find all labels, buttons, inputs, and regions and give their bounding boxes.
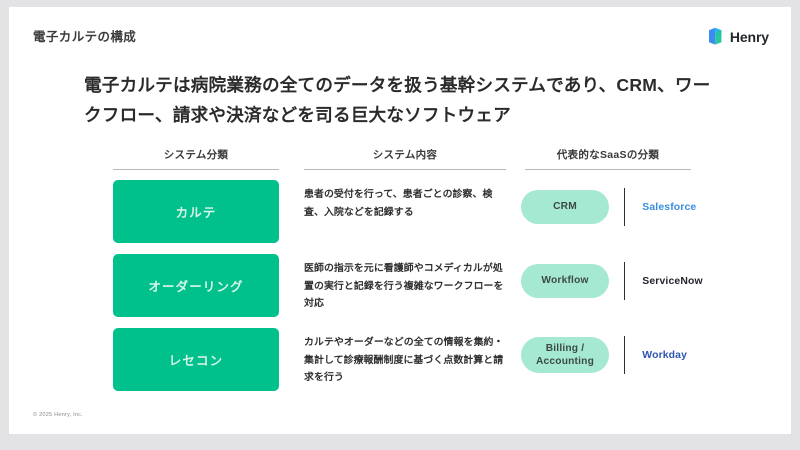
saas-type-pill: Billing /Accounting xyxy=(521,337,609,374)
column-header-category: システム分類 xyxy=(113,147,279,170)
category-box: オーダーリング xyxy=(113,254,279,317)
table-row: カルテ 患者の受付を行って、患者ごとの診察、検査、入院などを記録する CRM S… xyxy=(9,180,791,243)
saas-group: CRM Salesforce xyxy=(521,188,696,226)
saas-type-label: CRM xyxy=(553,200,577,213)
row-description: 患者の受付を行って、患者ごとの診察、検査、入院などを記録する xyxy=(304,186,507,221)
vertical-divider xyxy=(624,262,625,300)
page-title: 電子カルテの構成 xyxy=(33,31,136,44)
brand-logo-group: Henry xyxy=(708,27,769,46)
category-label: オーダーリング xyxy=(148,276,243,295)
matrix-rows: カルテ 患者の受付を行って、患者ごとの診察、検査、入院などを記録する CRM S… xyxy=(9,180,791,391)
saas-type-pill: Workflow xyxy=(521,264,609,298)
category-box: カルテ xyxy=(113,180,279,243)
column-header-row: システム分類 システム内容 代表的なSaaSの分類 xyxy=(9,147,791,171)
saas-type-label: Billing /Accounting xyxy=(536,342,594,369)
brand-name: Henry xyxy=(730,29,769,45)
row-description: 医師の指示を元に看護師やコメディカルが処置の実行と記録を行う複雑なワークフローを… xyxy=(304,260,507,313)
saas-group: Billing /Accounting Workday xyxy=(521,336,687,374)
vendor-name: Workday xyxy=(642,350,687,361)
table-row: オーダーリング 医師の指示を元に看護師やコメディカルが処置の実行と記録を行う複雑… xyxy=(9,254,791,317)
slide-heading: 電子カルテは病院業務の全てのデータを扱う基幹システムであり、CRM、ワークフロー… xyxy=(84,70,724,131)
vertical-divider xyxy=(624,188,625,226)
saas-group: Workflow ServiceNow xyxy=(521,262,703,300)
column-header-saas: 代表的なSaaSの分類 xyxy=(525,147,691,170)
category-label: レセコン xyxy=(169,350,223,369)
system-matrix: システム分類 システム内容 代表的なSaaSの分類 カルテ 患者の受付を行って、… xyxy=(9,147,791,402)
slide: 電子カルテの構成 Henry 電子カルテは病院業務の全てのデータを扱う基幹システ… xyxy=(9,7,791,434)
table-row: レセコン カルテやオーダーなどの全ての情報を集約・集計して診療報酬制度に基づく点… xyxy=(9,328,791,391)
footer-copyright: © 2025 Henry, Inc. xyxy=(33,412,83,418)
slide-header: 電子カルテの構成 Henry xyxy=(9,7,791,55)
column-header-content: システム内容 xyxy=(304,147,506,170)
vertical-divider xyxy=(624,336,625,374)
category-label: カルテ xyxy=(176,202,217,221)
row-description: カルテやオーダーなどの全ての情報を集約・集計して診療報酬制度に基づく点数計算と請… xyxy=(304,334,507,387)
henry-logo-icon xyxy=(708,27,725,46)
saas-type-pill: CRM xyxy=(521,190,609,224)
saas-type-label: Workflow xyxy=(541,274,588,287)
vendor-name: Salesforce xyxy=(642,202,696,213)
category-box: レセコン xyxy=(113,328,279,391)
vendor-name: ServiceNow xyxy=(642,276,702,287)
